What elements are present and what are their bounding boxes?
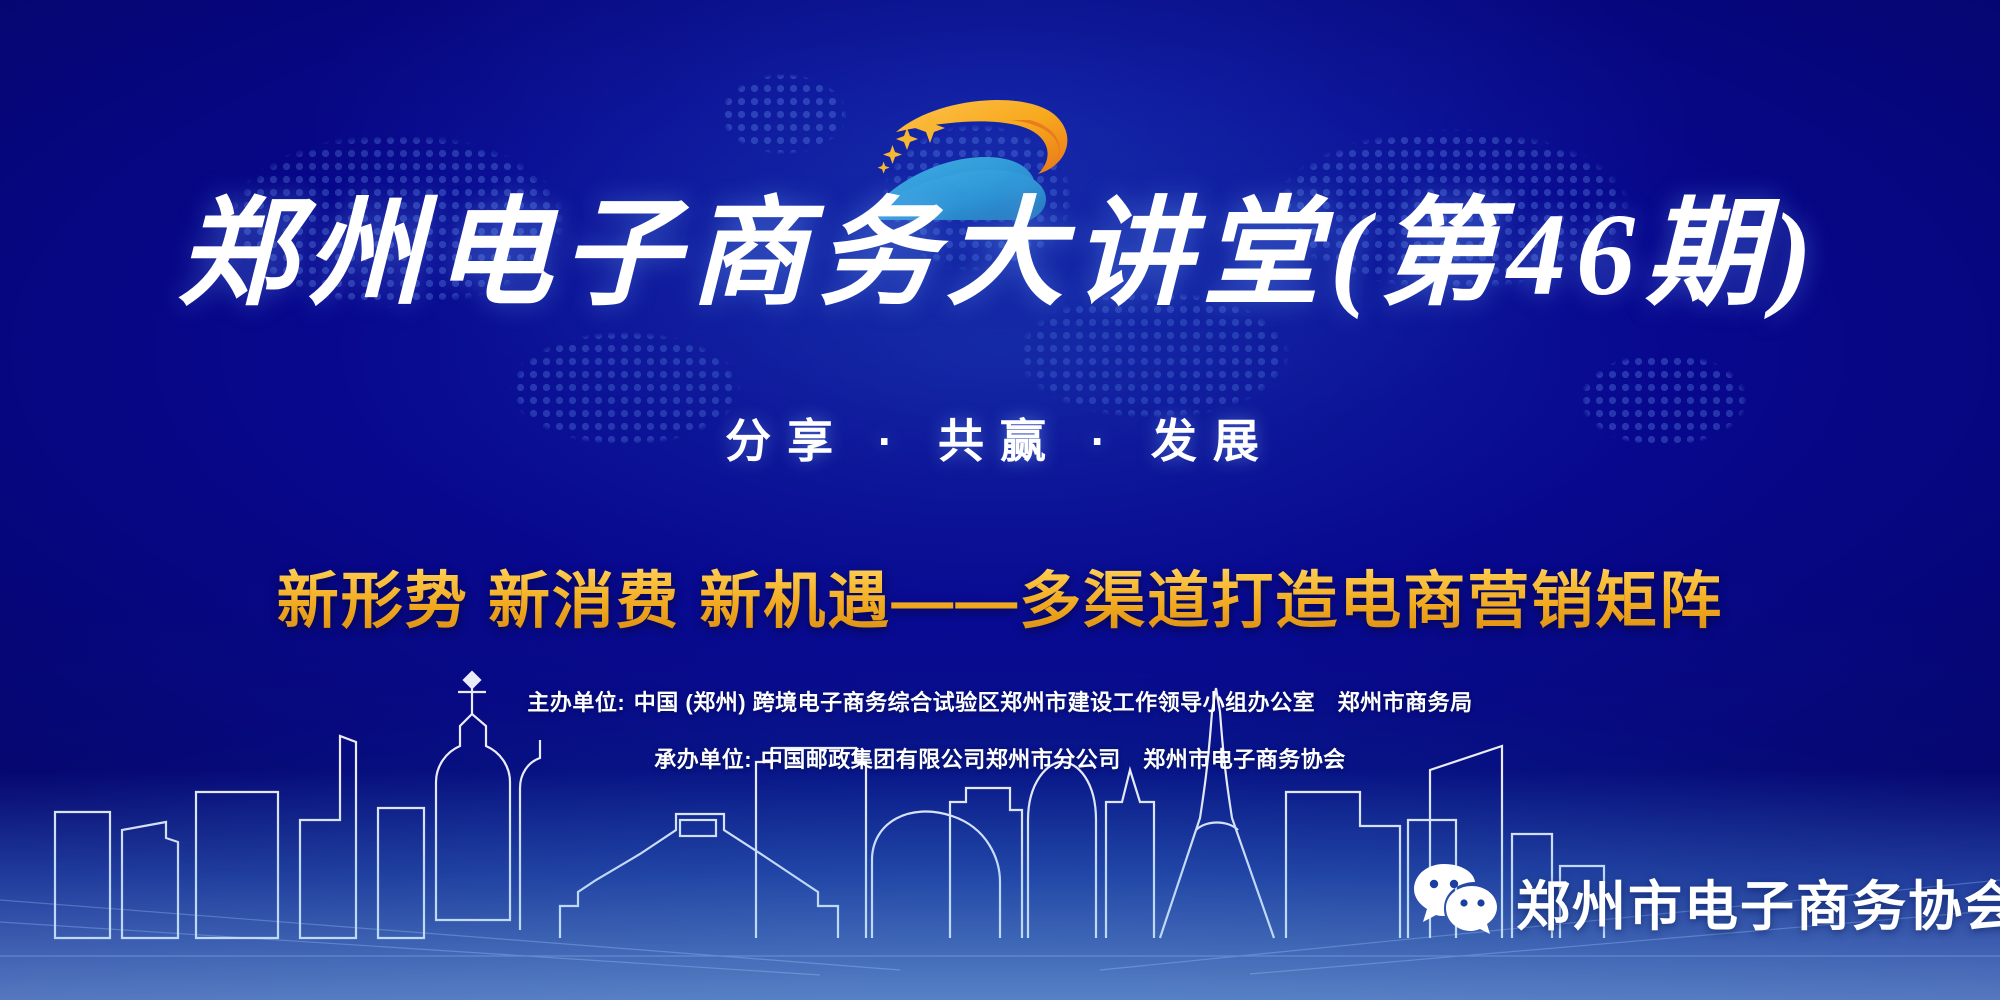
city-skyline (0, 670, 2000, 1000)
event-poster: 郑州电子商务大讲堂(第46期) 分享 · 共赢 · 发展 新形势 新消费 新机遇… (0, 0, 2000, 1000)
page-title: 郑州电子商务大讲堂(第46期) (0, 196, 2000, 314)
wechat-badge[interactable]: 郑州市电子商务协会 (1412, 862, 2000, 941)
wechat-account-name: 郑州市电子商务协会 (1516, 862, 2000, 941)
subtitle: 分享 · 共赢 · 发展 (0, 405, 2000, 471)
headline: 新形势 新消费 新机遇——多渠道打造电商营销矩阵 (0, 550, 2000, 640)
wechat-icon (1412, 862, 1498, 941)
